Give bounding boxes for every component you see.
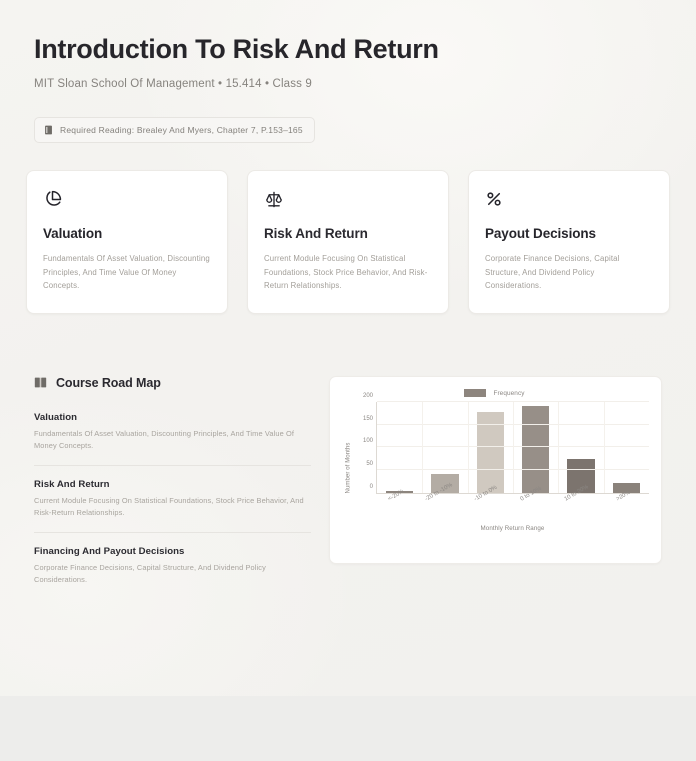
topic-card-title: Payout Decisions [485, 226, 653, 241]
topic-card-list: Valuation Fundamentals Of Asset Valuatio… [0, 170, 696, 314]
topic-card-valuation[interactable]: Valuation Fundamentals Of Asset Valuatio… [26, 170, 228, 314]
chart-bar-slot [558, 402, 603, 493]
chart-plot: 050100150200 [376, 402, 649, 494]
roadmap-item[interactable]: Valuation Fundamentals Of Asset Valuatio… [34, 412, 311, 466]
roadmap-item[interactable]: Risk And Return Current Module Focusing … [34, 479, 311, 533]
roadmap-item-title: Risk And Return [34, 479, 311, 490]
frequency-histogram-card: Frequency Number of Months 050100150200 … [329, 376, 662, 564]
page-subtitle: MIT Sloan School Of Management • 15.414 … [34, 78, 662, 90]
chart-bar[interactable] [522, 406, 549, 493]
chart-y-tick: 200 [363, 393, 377, 399]
percent-icon [485, 188, 503, 210]
course-road-map: Course Road Map Valuation Fundamentals O… [26, 376, 311, 612]
chart-vertical-gridline [422, 402, 423, 493]
chart-vertical-gridline [513, 402, 514, 493]
roadmap-item-title: Financing And Payout Decisions [34, 546, 311, 557]
chart-x-tick-slot: 0 to 10% [513, 494, 559, 522]
chart-legend: Frequency [340, 387, 649, 400]
page-title: Introduction To Risk And Return [34, 34, 662, 65]
legend-swatch [464, 389, 486, 397]
chart-y-tick: 0 [370, 484, 377, 490]
roadmap-item-title: Valuation [34, 412, 311, 423]
page-header: Introduction To Risk And Return MIT Sloa… [0, 0, 696, 143]
chart-plot-area: Number of Months 050100150200 <-20%-20 t… [340, 402, 649, 534]
topic-card-description: Current Module Focusing On Statistical F… [264, 252, 432, 293]
topic-card-description: Corporate Finance Decisions, Capital Str… [485, 252, 653, 293]
chart-bar-slot [377, 402, 422, 493]
chart-x-tick-slot: -10 to 0% [467, 494, 513, 522]
chart-vertical-gridline [604, 402, 605, 493]
course-road-map-title: Course Road Map [56, 376, 161, 390]
course-road-map-header: Course Road Map [34, 376, 311, 390]
chart-x-axis-label: Monthly Return Range [376, 525, 649, 532]
chart-y-tick: 50 [366, 461, 377, 467]
chart-bar-slot [604, 402, 649, 493]
chart-bar-slot [422, 402, 467, 493]
pie-chart-icon [43, 188, 62, 210]
roadmap-item[interactable]: Financing And Payout Decisions Corporate… [34, 546, 311, 599]
chart-x-tick-slot: 10 to 20% [558, 494, 604, 522]
topic-card-title: Valuation [43, 226, 211, 241]
chart-x-tick-slot: -20 to -10% [422, 494, 468, 522]
required-reading-text: Required Reading: Brealey And Myers, Cha… [60, 125, 303, 135]
chart-y-tick: 150 [363, 416, 377, 422]
chart-x-tick-labels: <-20%-20 to -10%-10 to 0%0 to 10%10 to 2… [376, 494, 649, 522]
scales-balance-icon [264, 188, 284, 210]
chart-x-tick-slot: <-20% [376, 494, 422, 522]
topic-card-description: Fundamentals Of Asset Valuation, Discoun… [43, 252, 211, 293]
lower-section: Course Road Map Valuation Fundamentals O… [0, 376, 696, 612]
chart-y-axis-label: Number of Months [345, 442, 351, 493]
topic-card-title: Risk And Return [264, 226, 432, 241]
chart-x-tick-slot: >20% [604, 494, 650, 522]
required-reading-badge: Required Reading: Brealey And Myers, Cha… [34, 117, 315, 143]
book-icon [44, 125, 53, 135]
chart-y-tick: 100 [363, 438, 377, 444]
chart-bar-slot [468, 402, 513, 493]
slide-page: Introduction To Risk And Return MIT Sloa… [0, 0, 696, 696]
roadmap-item-description: Fundamentals Of Asset Valuation, Discoun… [34, 428, 311, 452]
chart-vertical-gridline [468, 402, 469, 493]
chart-bar-slot [513, 402, 558, 493]
footer-band [0, 696, 696, 761]
topic-card-risk-and-return[interactable]: Risk And Return Current Module Focusing … [247, 170, 449, 314]
open-book-icon [34, 376, 47, 389]
roadmap-item-description: Current Module Focusing On Statistical F… [34, 495, 311, 519]
chart-vertical-gridline [558, 402, 559, 493]
legend-label: Frequency [493, 390, 524, 397]
topic-card-payout-decisions[interactable]: Payout Decisions Corporate Finance Decis… [468, 170, 670, 314]
roadmap-item-description: Corporate Finance Decisions, Capital Str… [34, 562, 311, 586]
